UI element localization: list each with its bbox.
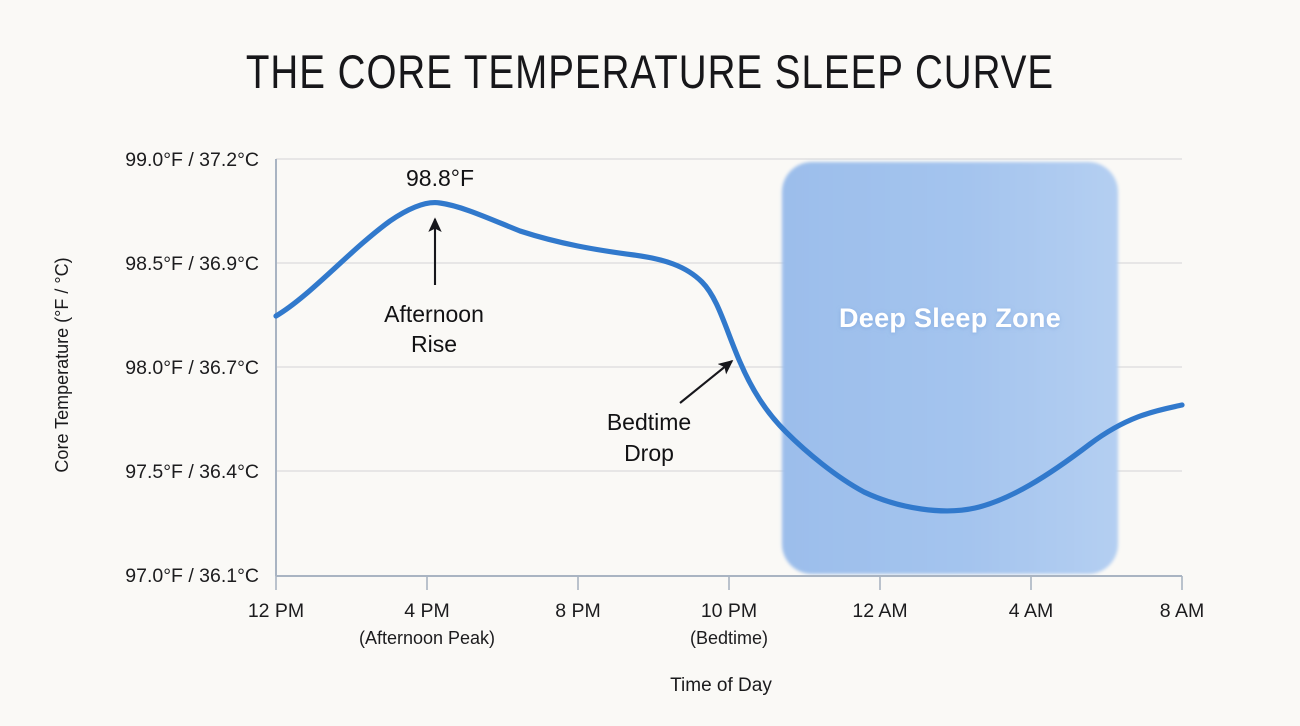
x-tick-label: 12 PM	[248, 600, 304, 622]
y-tick-label: 99.0°F / 37.2°C	[125, 149, 259, 171]
y-axis-title: Core Temperature (°F / °C)	[52, 257, 72, 472]
bedtime-drop-label-line2: Drop	[624, 440, 674, 466]
y-tick-label: 98.0°F / 36.7°C	[125, 357, 259, 379]
x-tick-marks	[276, 576, 1182, 590]
x-tick-label: 8 PM	[555, 600, 601, 622]
y-tick-label: 97.0°F / 36.1°C	[125, 565, 259, 587]
x-tick-label: 4 PM	[404, 600, 450, 622]
x-tick-label: 4 AM	[1009, 600, 1053, 622]
x-tick-sublabel: (Bedtime)	[690, 628, 768, 648]
x-tick-sublabel: (Afternoon Peak)	[359, 628, 495, 648]
deep-sleep-zone-label: Deep Sleep Zone	[839, 303, 1061, 333]
chart-plot-area: 99.0°F / 37.2°C 98.5°F / 36.9°C 98.0°F /…	[0, 0, 1300, 726]
afternoon-rise-annotation: Afternoon Rise	[384, 219, 484, 357]
peak-value-label: 98.8°F	[406, 165, 474, 191]
x-tick-label: 12 AM	[852, 600, 907, 622]
x-tick-label: 8 AM	[1160, 600, 1204, 622]
x-axis-title: Time of Day	[670, 675, 772, 696]
bedtime-drop-label-line1: Bedtime	[607, 409, 691, 435]
bedtime-drop-annotation: Bedtime Drop	[607, 361, 732, 466]
afternoon-rise-label-line2: Rise	[411, 331, 457, 357]
x-tick-labels: 12 PM 4 PM 8 PM 10 PM 12 AM 4 AM 8 AM (A…	[248, 600, 1204, 648]
afternoon-rise-label-line1: Afternoon	[384, 301, 484, 327]
y-tick-labels: 99.0°F / 37.2°C 98.5°F / 36.9°C 98.0°F /…	[125, 149, 259, 587]
y-tick-label: 97.5°F / 36.4°C	[125, 461, 259, 483]
sleep-curve-chart: THE CORE TEMPERATURE SLEEP CURVE	[0, 0, 1300, 726]
x-tick-label: 10 PM	[701, 600, 757, 622]
y-tick-label: 98.5°F / 36.9°C	[125, 253, 259, 275]
